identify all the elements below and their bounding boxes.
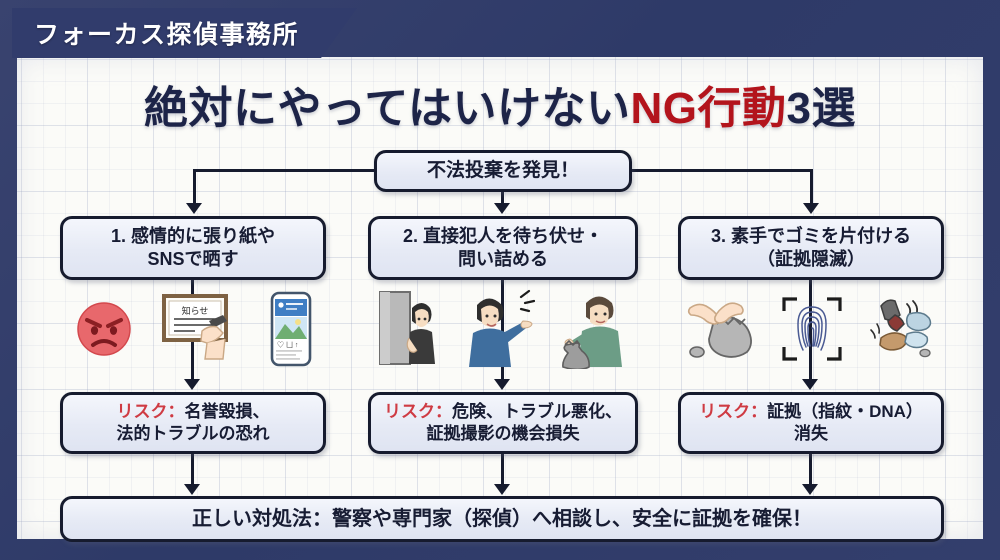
person-hiding-behind-wall-icon bbox=[378, 290, 442, 368]
step-1-line-1: 1. 感情的に張り紙や bbox=[111, 226, 275, 246]
person-with-trash-bag-icon bbox=[556, 289, 628, 369]
title-part-1: 絶対にやってはいけない bbox=[144, 84, 630, 133]
connector-top-left-vertical bbox=[193, 169, 196, 205]
step-1-line-2: SNSで晒す bbox=[147, 249, 238, 269]
arrow-to-step-3 bbox=[803, 203, 819, 214]
banner-title: フォーカス探偵事務所 bbox=[34, 15, 299, 51]
step-3-line-1: 3. 素手でゴミを片付ける bbox=[711, 226, 911, 246]
flow-box-risk-2: リスク：危険、トラブル悪化、証拠撮影の機会損失 bbox=[368, 392, 638, 454]
risk-2-line-1: 危険、トラブル悪化、 bbox=[452, 402, 622, 421]
header-banner: フォーカス探偵事務所 bbox=[12, 8, 357, 58]
risk-1-line-2: 法的トラブルの恐れ bbox=[117, 424, 270, 443]
title-part-2-ng: NG行動 bbox=[630, 84, 786, 133]
risk-2-line-2: 証拠撮影の機会損失 bbox=[427, 424, 580, 443]
risk-3-label: リスク： bbox=[699, 402, 767, 421]
step-2-line-2: 問い詰める bbox=[458, 249, 548, 269]
bare-hands-picking-trash-icon bbox=[687, 296, 763, 362]
notice-poster-writing-icon: 知らせ bbox=[161, 293, 243, 365]
page-title: 絶対にやってはいけないNG行動3選 bbox=[0, 72, 1000, 136]
fingerprint-scan-icon bbox=[781, 296, 843, 362]
person-confronting-pointing-icon bbox=[463, 289, 535, 369]
arrow-to-risk-3 bbox=[802, 379, 818, 390]
arrow-to-risk-2 bbox=[494, 379, 510, 390]
angry-face-icon bbox=[74, 299, 134, 359]
connector-risk2-to-bottom bbox=[501, 454, 504, 485]
flow-box-step-2-text: 2. 直接犯人を待ち伏せ・問い詰める bbox=[397, 225, 609, 272]
flow-box-discovery-text: 不法投棄を発見！ bbox=[421, 159, 585, 184]
svg-text:♡ 凵 ↑: ♡ 凵 ↑ bbox=[277, 341, 298, 349]
flow-box-discovery: 不法投棄を発見！ bbox=[374, 150, 632, 192]
connector-risk3-to-bottom bbox=[809, 454, 812, 485]
flow-box-risk-1-text: リスク：名誉毀損、法的トラブルの恐れ bbox=[111, 401, 276, 445]
flow-box-step-3: 3. 素手でゴミを片付ける（証拠隠滅） bbox=[678, 216, 944, 280]
step-3-line-2: （証拠隠滅） bbox=[757, 249, 865, 269]
arrow-to-step-2 bbox=[494, 203, 510, 214]
arrow-to-bottom-3 bbox=[802, 484, 818, 495]
connector-top-left-horizontal bbox=[193, 169, 377, 172]
risk-2-label: リスク： bbox=[384, 402, 452, 421]
risk-1-line-1: 名誉毀損、 bbox=[185, 402, 270, 421]
step-2-line-1: 2. 直接犯人を待ち伏せ・ bbox=[403, 226, 603, 246]
risk-3-line-2: 消失 bbox=[794, 424, 828, 443]
flow-box-conclusion-text: 正しい対処法：警察や専門家（探偵）へ相談し、安全に証拠を確保！ bbox=[186, 506, 818, 532]
risk-3-line-1: 証拠（指紋・DNA） bbox=[767, 402, 923, 421]
illustration-group-3 bbox=[678, 286, 944, 372]
flow-box-risk-3: リスク：証拠（指紋・DNA）消失 bbox=[678, 392, 944, 454]
scattered-trash-icon bbox=[861, 296, 935, 362]
smartphone-sns-post-icon: ♡ 凵 ↑ bbox=[270, 291, 312, 367]
illustration-group-2 bbox=[368, 286, 638, 372]
risk-1-label: リスク： bbox=[117, 402, 185, 421]
illustration-group-1: 知らせ ♡ 凵 ↑ bbox=[60, 286, 326, 372]
infographic-canvas: フォーカス探偵事務所 絶対にやってはいけないNG行動3選 不法投棄を発見！ 1.… bbox=[0, 0, 1000, 560]
svg-text:知らせ: 知らせ bbox=[182, 305, 209, 316]
flow-box-step-2: 2. 直接犯人を待ち伏せ・問い詰める bbox=[368, 216, 638, 280]
flow-box-step-1: 1. 感情的に張り紙やSNSで晒す bbox=[60, 216, 326, 280]
arrow-to-bottom-2 bbox=[494, 484, 510, 495]
connector-top-right-vertical bbox=[810, 169, 813, 205]
flow-box-risk-3-text: リスク：証拠（指紋・DNA）消失 bbox=[693, 401, 929, 445]
connector-top-right-horizontal bbox=[629, 169, 813, 172]
flow-box-step-3-text: 3. 素手でゴミを片付ける（証拠隠滅） bbox=[705, 225, 917, 272]
title-part-3: 3選 bbox=[786, 84, 855, 133]
arrow-to-step-1 bbox=[186, 203, 202, 214]
flow-box-conclusion: 正しい対処法：警察や専門家（探偵）へ相談し、安全に証拠を確保！ bbox=[60, 496, 944, 542]
flow-box-risk-1: リスク：名誉毀損、法的トラブルの恐れ bbox=[60, 392, 326, 454]
arrow-to-bottom-1 bbox=[184, 484, 200, 495]
flow-box-risk-2-text: リスク：危険、トラブル悪化、証拠撮影の機会損失 bbox=[378, 401, 628, 445]
arrow-to-risk-1 bbox=[184, 379, 200, 390]
flow-box-step-1-text: 1. 感情的に張り紙やSNSで晒す bbox=[105, 225, 281, 272]
connector-risk1-to-bottom bbox=[191, 454, 194, 485]
